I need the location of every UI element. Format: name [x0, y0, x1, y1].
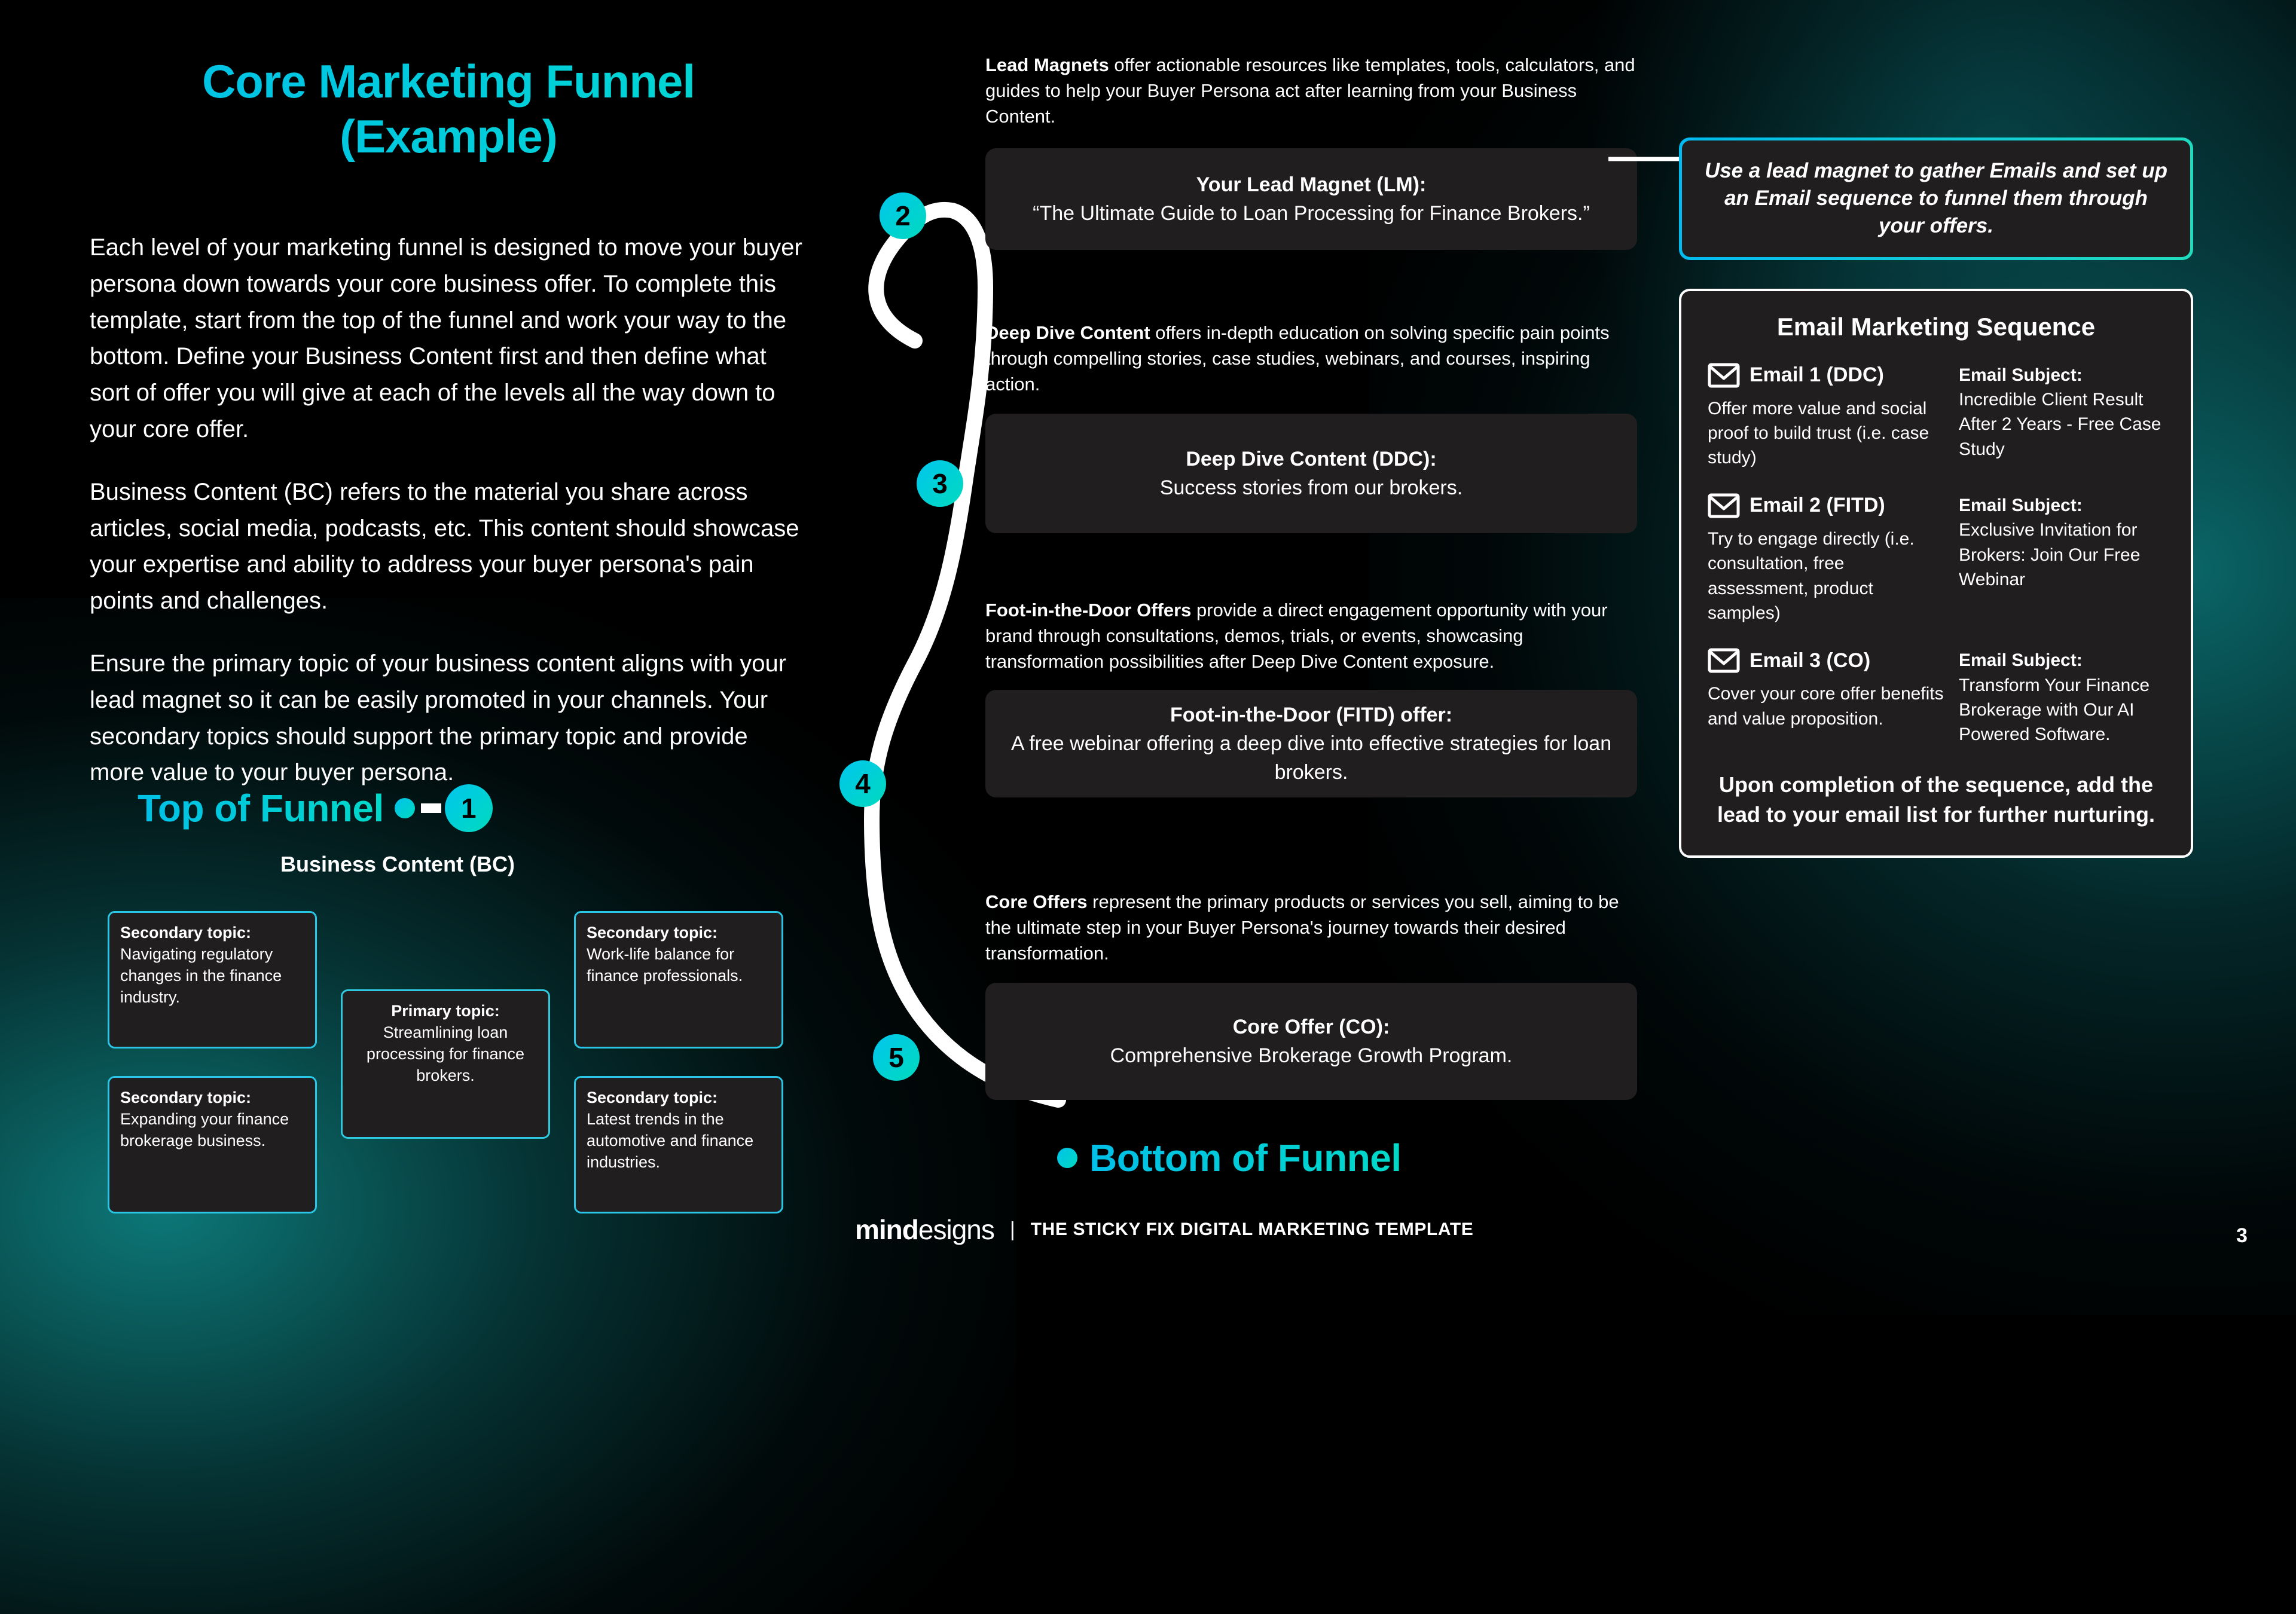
foot-in-the-door-card[interactable]: Foot-in-the-Door (FITD) offer: A free we…	[985, 690, 1637, 797]
email-name: Email 1 (DDC)	[1750, 363, 1884, 387]
topic-label: Secondary topic:	[120, 1087, 304, 1109]
brand-logo-light: esigns	[918, 1214, 994, 1245]
brand-logo: mindesigns	[855, 1213, 994, 1246]
email-header: Email 3 (CO)	[1708, 648, 1947, 673]
top-of-funnel-dot-icon	[395, 798, 415, 818]
topic-label: Secondary topic:	[587, 1087, 771, 1109]
lead-magnet-callout: Use a lead magnet to gather Emails and s…	[1679, 137, 2193, 260]
email-row[interactable]: Email 2 (FITD) Try to engage directly (i…	[1708, 493, 2164, 626]
section-core-offers: Core Offers represent the primary produc…	[985, 889, 1637, 1100]
core-offer-card[interactable]: Core Offer (CO): Comprehensive Brokerage…	[985, 983, 1637, 1100]
slide-footer: mindesigns | THE STICKY FIX DIGITAL MARK…	[855, 1213, 1473, 1246]
card-title: Deep Dive Content (DDC):	[1009, 445, 1613, 473]
section-description: Core Offers represent the primary produc…	[985, 889, 1637, 966]
email-subject-block: Email Subject: Incredible Client Result …	[1959, 363, 2162, 470]
topic-box-primary[interactable]: Primary topic: Streamlining loan process…	[341, 989, 550, 1139]
topic-label: Secondary topic:	[120, 922, 304, 944]
email-marketing-sequence-panel: Email Marketing Sequence Email 1 (DDC) O…	[1679, 289, 2193, 858]
email-panel-title: Email Marketing Sequence	[1708, 313, 2164, 341]
envelope-icon	[1708, 648, 1740, 673]
section-term: Foot-in-the-Door Offers	[985, 600, 1191, 620]
topic-text: Latest trends in the automotive and fina…	[587, 1110, 753, 1171]
topic-box-secondary-2[interactable]: Secondary topic: Expanding your finance …	[108, 1076, 317, 1213]
funnel-step-5-badge: 5	[873, 1034, 920, 1081]
email-description: Try to engage directly (i.e. consultatio…	[1708, 527, 1947, 626]
email-header: Email 2 (FITD)	[1708, 493, 1947, 518]
section-description: Lead Magnets offer actionable resources …	[985, 53, 1637, 129]
intro-paragraph-3: Ensure the primary topic of your busines…	[90, 646, 807, 791]
topic-box-secondary-1[interactable]: Secondary topic: Navigating regulatory c…	[108, 911, 317, 1049]
slide-canvas: Core Marketing Funnel (Example) Each lev…	[0, 0, 2296, 1291]
email-subject-text: Incredible Client Result After 2 Years -…	[1959, 390, 2161, 459]
intro-paragraph-1: Each level of your marketing funnel is d…	[90, 230, 807, 448]
card-body: “The Ultimate Guide to Loan Processing f…	[1009, 199, 1613, 228]
email-subject-label: Email Subject:	[1959, 363, 2162, 387]
lead-magnet-card[interactable]: Your Lead Magnet (LM): “The Ultimate Gui…	[985, 148, 1637, 250]
card-body: A free webinar offering a deep dive into…	[1009, 729, 1613, 787]
envelope-icon	[1708, 363, 1740, 388]
email-left-col: Email 3 (CO) Cover your core offer benef…	[1708, 648, 1947, 747]
topic-box-secondary-3[interactable]: Secondary topic: Work-life balance for f…	[574, 911, 783, 1049]
bottom-of-funnel-dot-icon	[1057, 1148, 1077, 1168]
intro-paragraph-2: Business Content (BC) refers to the mate…	[90, 474, 807, 619]
brand-logo-bold: mind	[855, 1214, 918, 1245]
left-column: Core Marketing Funnel (Example) Each lev…	[90, 54, 807, 791]
topic-text: Navigating regulatory changes in the fin…	[120, 945, 282, 1006]
section-foot-in-the-door: Foot-in-the-Door Offers provide a direct…	[985, 598, 1637, 797]
email-name: Email 2 (FITD)	[1750, 494, 1885, 517]
section-term: Core Offers	[985, 891, 1088, 912]
top-of-funnel-label: Top of Funnel	[138, 786, 384, 830]
section-lead-magnets: Lead Magnets offer actionable resources …	[985, 53, 1637, 250]
card-body: Success stories from our brokers.	[1009, 473, 1613, 502]
topic-text: Expanding your finance brokerage busines…	[120, 1110, 289, 1150]
envelope-icon	[1708, 493, 1740, 518]
funnel-step-2-badge: 2	[880, 192, 926, 239]
email-row[interactable]: Email 3 (CO) Cover your core offer benef…	[1708, 648, 2164, 747]
email-name: Email 3 (CO)	[1750, 649, 1870, 672]
topic-box-secondary-4[interactable]: Secondary topic: Latest trends in the au…	[574, 1076, 783, 1213]
email-left-col: Email 1 (DDC) Offer more value and socia…	[1708, 363, 1947, 470]
section-term: Lead Magnets	[985, 54, 1109, 75]
email-subject-block: Email Subject: Exclusive Invitation for …	[1959, 493, 2162, 626]
top-of-funnel-marker: Top of Funnel 1	[138, 784, 493, 832]
email-left-col: Email 2 (FITD) Try to engage directly (i…	[1708, 493, 1947, 626]
business-content-heading: Business Content (BC)	[90, 852, 706, 877]
top-of-funnel-dash-icon	[421, 803, 441, 813]
lead-magnet-callout-text: Use a lead magnet to gather Emails and s…	[1682, 140, 2190, 257]
card-title: Core Offer (CO):	[1009, 1013, 1613, 1041]
page-title-line-2: (Example)	[90, 109, 807, 164]
email-panel-footer: Upon completion of the sequence, add the…	[1708, 770, 2164, 829]
funnel-step-3-badge: 3	[917, 460, 963, 507]
email-subject-label: Email Subject:	[1959, 493, 2162, 518]
email-header: Email 1 (DDC)	[1708, 363, 1947, 388]
deep-dive-content-card[interactable]: Deep Dive Content (DDC): Success stories…	[985, 414, 1637, 533]
bottom-of-funnel-marker: Bottom of Funnel	[1057, 1136, 1402, 1180]
section-description: Foot-in-the-Door Offers provide a direct…	[985, 598, 1637, 674]
funnel-step-1-badge: 1	[445, 784, 493, 832]
page-title-line-1: Core Marketing Funnel	[90, 54, 807, 109]
section-deep-dive-content: Deep Dive Content offers in-depth educat…	[985, 320, 1637, 533]
footer-divider: |	[1010, 1218, 1015, 1242]
section-description: Deep Dive Content offers in-depth educat…	[985, 320, 1637, 397]
topic-label: Primary topic:	[353, 1001, 538, 1022]
topic-text: Streamlining loan processing for finance…	[367, 1023, 524, 1084]
footer-template-name: THE STICKY FIX DIGITAL MARKETING TEMPLAT…	[1031, 1219, 1474, 1240]
email-subject-text: Transform Your Finance Brokerage with Ou…	[1959, 675, 2150, 745]
section-term: Deep Dive Content	[985, 322, 1150, 343]
email-row[interactable]: Email 1 (DDC) Offer more value and socia…	[1708, 363, 2164, 470]
topic-text: Work-life balance for finance profession…	[587, 945, 743, 985]
email-description: Offer more value and social proof to bui…	[1708, 396, 1947, 470]
email-description: Cover your core offer benefits and value…	[1708, 681, 1947, 731]
email-subject-text: Exclusive Invitation for Brokers: Join O…	[1959, 520, 2140, 589]
intro-copy: Each level of your marketing funnel is d…	[90, 230, 807, 791]
topic-label: Secondary topic:	[587, 922, 771, 944]
email-subject-block: Email Subject: Transform Your Finance Br…	[1959, 648, 2162, 747]
email-subject-label: Email Subject:	[1959, 648, 2162, 672]
funnel-step-4-badge: 4	[839, 760, 886, 807]
card-body: Comprehensive Brokerage Growth Program.	[1009, 1041, 1613, 1070]
bottom-of-funnel-label: Bottom of Funnel	[1089, 1136, 1402, 1180]
page-title: Core Marketing Funnel (Example)	[90, 54, 807, 164]
right-column: Use a lead magnet to gather Emails and s…	[1679, 137, 2193, 858]
business-content-topic-grid: Secondary topic: Navigating regulatory c…	[108, 903, 801, 1219]
page-number: 3	[2236, 1224, 2248, 1248]
card-title: Your Lead Magnet (LM):	[1009, 170, 1613, 199]
card-title: Foot-in-the-Door (FITD) offer:	[1009, 701, 1613, 729]
